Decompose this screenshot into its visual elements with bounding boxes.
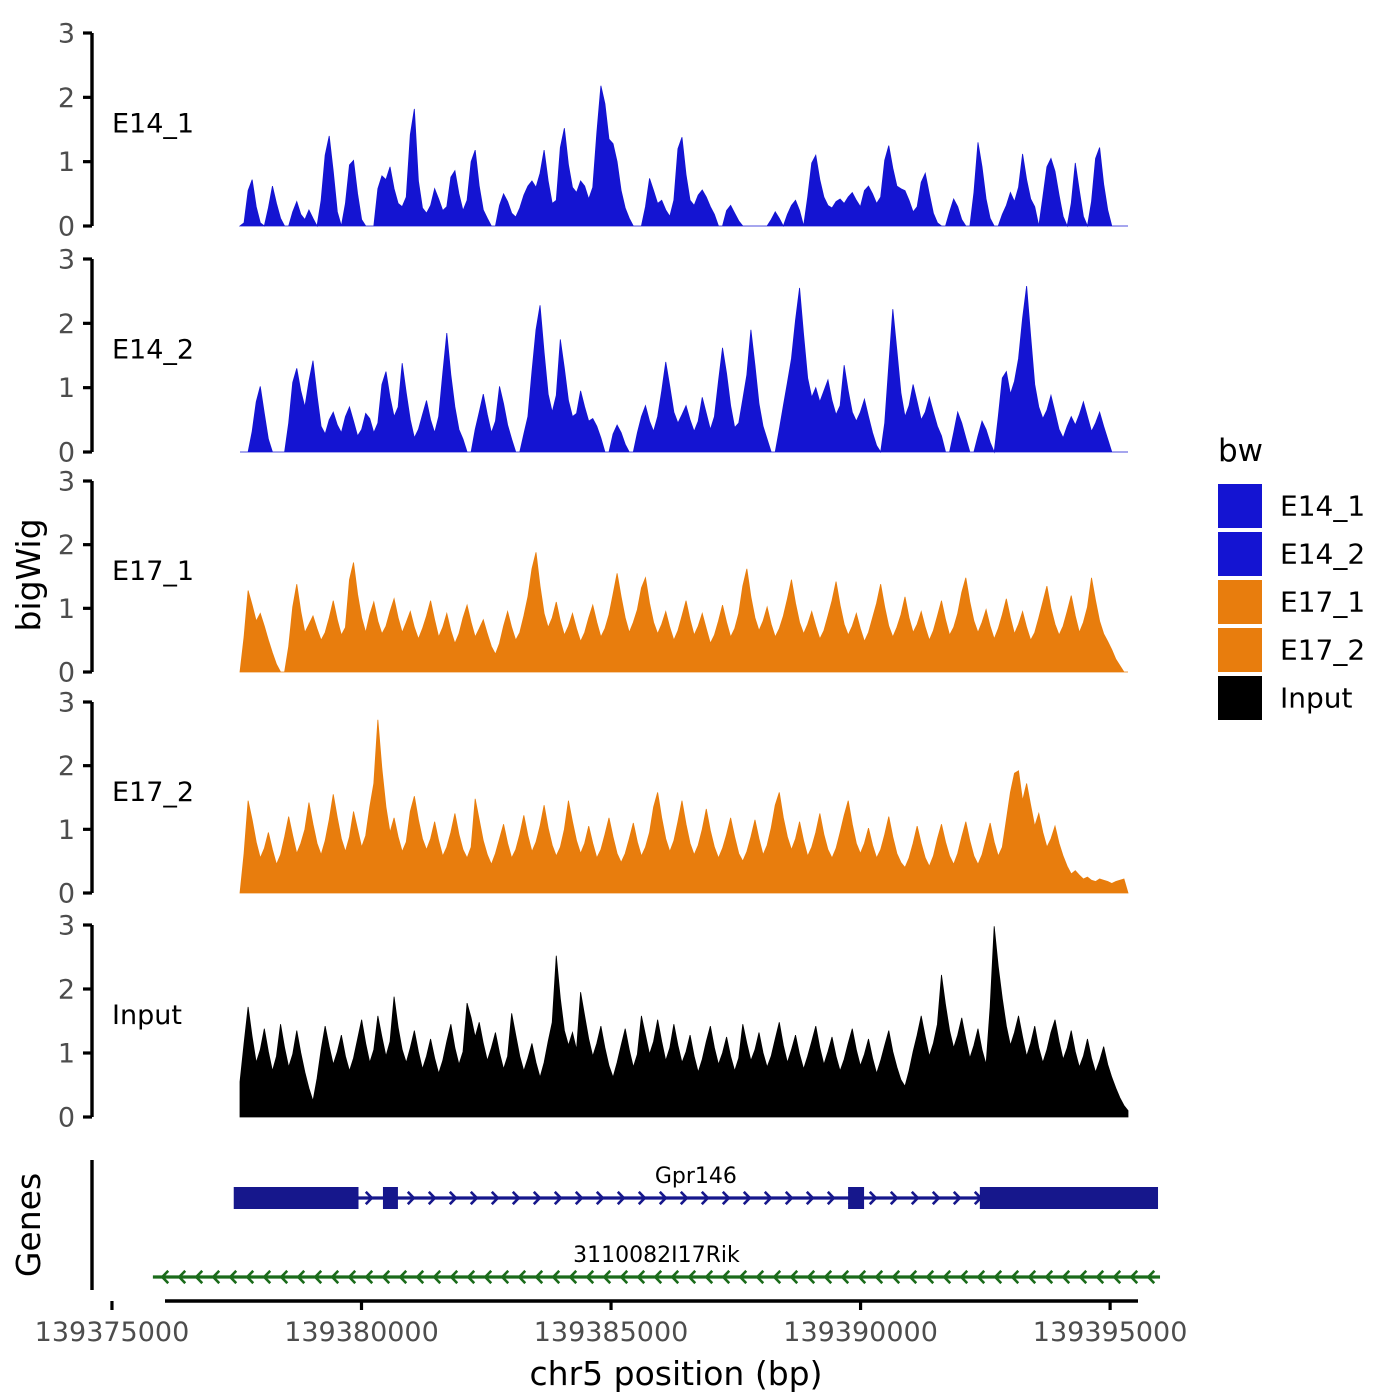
x-axis-title: chr5 position (bp)	[530, 1354, 823, 1393]
y-tick-label: 0	[58, 212, 75, 243]
y-tick-label: 3	[58, 911, 75, 942]
x-axis: 1393750001393800001393850001393900001393…	[35, 1301, 1188, 1348]
legend-item-e14_1[interactable]: E14_1	[1218, 484, 1365, 528]
coverage-area-e17_1	[240, 552, 1128, 672]
x-tick-label: 139390000	[783, 1317, 938, 1348]
y-tick-label: 3	[58, 19, 75, 50]
gene-name-label: Gpr146	[655, 1164, 737, 1189]
legend-label-e17_2: E17_2	[1280, 634, 1365, 667]
y-tick-label: 1	[58, 147, 75, 178]
y-tick-label: 0	[58, 438, 75, 469]
y-tick-label: 0	[58, 1103, 75, 1134]
coverage-area-input	[240, 926, 1128, 1117]
legend-swatch-e17_2[interactable]	[1218, 628, 1262, 672]
y-axis-title-bigwig: bigWig	[9, 518, 48, 631]
track-label-e17_2: E17_2	[112, 777, 194, 808]
y-tick-label: 2	[58, 83, 75, 114]
track-label-e14_1: E14_1	[112, 109, 194, 140]
gene-exon	[849, 1188, 864, 1209]
legend-item-e14_2[interactable]: E14_2	[1218, 532, 1365, 576]
x-tick-label: 139375000	[35, 1317, 190, 1348]
legend-item-e17_1[interactable]: E17_1	[1218, 580, 1365, 624]
gene-exon	[234, 1188, 358, 1209]
y-tick-label: 0	[58, 658, 75, 689]
legend-label-e14_1: E14_1	[1280, 490, 1365, 523]
y-tick-label: 1	[58, 815, 75, 846]
track-panel-e14_1: 0123E14_1	[58, 19, 1128, 243]
y-tick-label: 3	[58, 688, 75, 719]
gene-name-label: 3110082I17Rik	[573, 1243, 740, 1268]
y-tick-label: 3	[58, 245, 75, 276]
legend-item-input[interactable]: Input	[1218, 676, 1353, 720]
track-panel-input: 0123Input	[58, 911, 1128, 1134]
legend-swatch-e14_2[interactable]	[1218, 532, 1262, 576]
legend-item-e17_2[interactable]: E17_2	[1218, 628, 1365, 672]
genes-panel: Gpr1463110082I17Rik	[92, 1160, 1160, 1290]
legend-label-input: Input	[1280, 682, 1353, 715]
legend-label-e17_1: E17_1	[1280, 586, 1365, 619]
y-tick-label: 1	[58, 1039, 75, 1070]
figure-root: 0123E14_10123E14_20123E17_10123E17_20123…	[0, 0, 1400, 1400]
coverage-area-e14_2	[240, 286, 1128, 452]
y-axis-title-genes: Genes	[9, 1173, 48, 1277]
track-label-input: Input	[112, 1000, 182, 1031]
y-tick-label: 2	[58, 530, 75, 561]
legend: bwE14_1E14_2E17_1E17_2Input	[1218, 433, 1365, 720]
y-tick-label: 1	[58, 373, 75, 404]
track-label-e17_1: E17_1	[112, 556, 194, 587]
x-tick-label: 139385000	[534, 1317, 689, 1348]
legend-swatch-input[interactable]	[1218, 676, 1262, 720]
legend-label-e14_2: E14_2	[1280, 538, 1365, 571]
track-panel-e17_1: 0123E17_1	[58, 467, 1128, 689]
gene-exon	[980, 1188, 1157, 1209]
legend-swatch-e14_1[interactable]	[1218, 484, 1262, 528]
y-tick-label: 3	[58, 467, 75, 498]
x-tick-label: 139395000	[1033, 1317, 1188, 1348]
y-tick-label: 2	[58, 975, 75, 1006]
track-panel-e14_2: 0123E14_2	[58, 245, 1128, 469]
coverage-area-e17_2	[240, 720, 1128, 893]
coverage-area-e14_1	[240, 86, 1128, 226]
y-tick-label: 2	[58, 309, 75, 340]
track-panel-e17_2: 0123E17_2	[58, 688, 1128, 910]
gene-gpr146: Gpr146	[234, 1164, 1157, 1209]
track-label-e14_2: E14_2	[112, 335, 194, 366]
legend-swatch-e17_1[interactable]	[1218, 580, 1262, 624]
figure-canvas: 0123E14_10123E14_20123E17_10123E17_20123…	[0, 0, 1400, 1400]
y-tick-label: 1	[58, 594, 75, 625]
y-tick-label: 0	[58, 879, 75, 910]
gene-exon	[383, 1188, 397, 1209]
gene-3110082i17rik: 3110082I17Rik	[153, 1243, 1160, 1283]
x-tick-label: 139380000	[284, 1317, 439, 1348]
y-tick-label: 2	[58, 751, 75, 782]
legend-title: bw	[1218, 433, 1263, 469]
